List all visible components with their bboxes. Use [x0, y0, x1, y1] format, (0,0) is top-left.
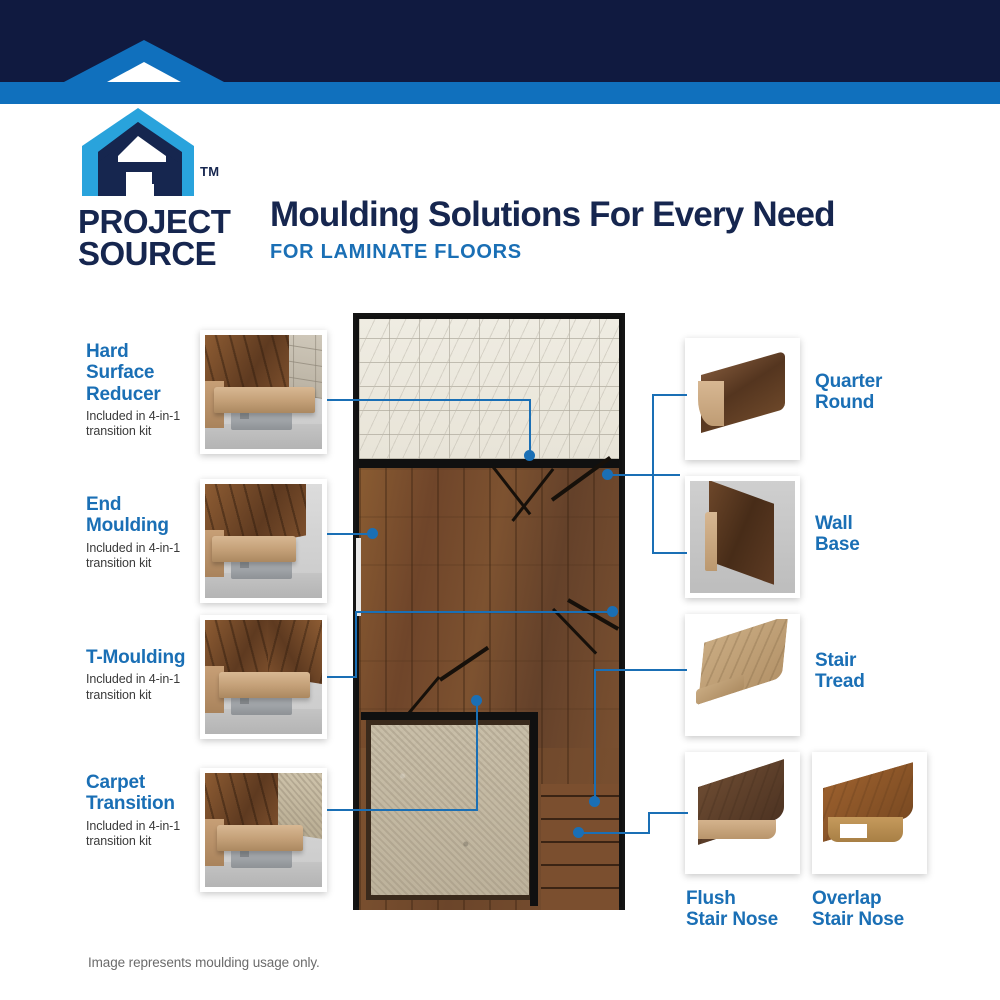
thumbnail-t-moulding[interactable] — [200, 615, 327, 739]
connector-dot-stair-nose — [573, 827, 584, 838]
label-line: Wall — [815, 513, 860, 534]
label-line: Moulding — [86, 515, 196, 536]
connector-dot-quarter-round-wall-base — [602, 469, 613, 480]
connector-stair-nose-v — [648, 812, 650, 834]
note-line: Included in 4-in-1 — [86, 672, 206, 687]
label-line: End — [86, 494, 196, 515]
carpet-transition-image — [205, 773, 322, 887]
label-line: Hard — [86, 341, 196, 362]
note-line: transition kit — [86, 834, 206, 849]
connector-carpet-transition-h1 — [327, 809, 478, 811]
footnote-text: Image represents moulding usage only. — [88, 955, 320, 970]
infographic-root: TM PROJECT SOURCE Moulding Solutions For… — [0, 0, 1000, 1000]
page-subtitle: FOR LAMINATE FLOORS — [270, 241, 970, 264]
connector-dot-stair-tread — [589, 796, 600, 807]
label-carpet-transition: Carpet Transition Included in 4-in-1 tra… — [86, 772, 206, 849]
label-line: Stair Nose — [686, 909, 778, 930]
note-line: transition kit — [86, 424, 196, 439]
brand-logo: TM PROJECT SOURCE — [78, 106, 226, 276]
connector-hard-surface-reducer-h — [327, 399, 531, 401]
connector-carpet-transition-v — [476, 700, 478, 810]
window-left-wall — [356, 538, 361, 616]
thumbnail-hard-surface-reducer[interactable] — [200, 330, 327, 454]
label-flush-stair-nose: Flush Stair Nose — [686, 888, 778, 931]
label-line: Carpet — [86, 772, 206, 793]
label-line: Quarter — [815, 371, 882, 392]
connector-t-moulding-h2 — [355, 611, 613, 613]
label-line: Base — [815, 534, 860, 555]
connector-stair-nose-h1 — [578, 832, 650, 834]
label-line: Overlap — [812, 888, 904, 909]
label-line: Tread — [815, 671, 865, 692]
brand-name: PROJECT SOURCE — [78, 206, 226, 271]
wall-carpet-right — [530, 712, 538, 906]
connector-hard-surface-reducer-v — [529, 399, 531, 455]
wall-divider-tile-wood — [359, 459, 619, 468]
connector-dot-hard-surface-reducer — [524, 450, 535, 461]
flush-stair-nose-image — [690, 757, 795, 869]
label-hard-surface-reducer: Hard Surface Reducer Included in 4-in-1 … — [86, 341, 196, 439]
label-line: Reducer — [86, 384, 196, 405]
connector-wall-base-h — [652, 552, 687, 554]
note-line: transition kit — [86, 556, 196, 571]
quarter-round-image — [690, 343, 795, 455]
label-line: Flush — [686, 888, 778, 909]
trademark-symbol: TM — [200, 164, 219, 179]
connector-end-moulding-h — [327, 533, 372, 535]
connector-dot-t-moulding — [607, 606, 618, 617]
connector-dot-carpet-transition — [471, 695, 482, 706]
page-header — [0, 0, 1000, 104]
note-line: Included in 4-in-1 — [86, 409, 196, 424]
note-carpet-transition: Included in 4-in-1 transition kit — [86, 819, 206, 850]
connector-qr-wb-bracket — [652, 394, 654, 554]
label-t-moulding: T-Moulding Included in 4-in-1 transition… — [86, 647, 206, 703]
label-line: Stair Nose — [812, 909, 904, 930]
thumbnail-overlap-stair-nose[interactable] — [812, 752, 927, 874]
room-tile-entry — [359, 319, 619, 459]
thumbnail-end-moulding[interactable] — [200, 479, 327, 603]
thumbnail-stair-tread[interactable] — [685, 614, 800, 736]
title-block: Moulding Solutions For Every Need FOR LA… — [270, 196, 970, 264]
header-blue-band — [0, 82, 1000, 104]
t-moulding-image — [205, 620, 322, 734]
connector-t-moulding-v — [355, 611, 357, 677]
end-moulding-image — [205, 484, 322, 598]
connector-stair-tread-v — [594, 669, 596, 801]
connector-qr-wb-stem — [607, 474, 680, 476]
note-hard-surface-reducer: Included in 4-in-1 transition kit — [86, 409, 196, 440]
label-stair-tread: Stair Tread — [815, 650, 865, 693]
connector-t-moulding-h1 — [327, 676, 357, 678]
house-p-logo-icon — [78, 106, 198, 198]
stair-tread-image — [690, 619, 795, 731]
label-line: Transition — [86, 793, 206, 814]
connector-quarter-round-h — [652, 394, 687, 396]
label-quarter-round: Quarter Round — [815, 371, 882, 414]
thumbnail-quarter-round[interactable] — [685, 338, 800, 460]
overlap-stair-nose-image — [817, 757, 922, 869]
label-end-moulding: End Moulding Included in 4-in-1 transiti… — [86, 494, 196, 571]
connector-stair-nose-h2 — [648, 812, 688, 814]
note-end-moulding: Included in 4-in-1 transition kit — [86, 541, 196, 572]
hard-surface-reducer-image — [205, 335, 322, 449]
brand-name-line1: PROJECT — [78, 206, 226, 238]
wall-carpet-top — [361, 712, 537, 720]
wall-base-image — [690, 481, 795, 593]
room-wood-stairs — [541, 784, 619, 910]
thumbnail-flush-stair-nose[interactable] — [685, 752, 800, 874]
connector-stair-tread-h — [594, 669, 687, 671]
label-line: Stair — [815, 650, 865, 671]
label-wall-base: Wall Base — [815, 513, 860, 556]
note-line: transition kit — [86, 688, 206, 703]
thumbnail-wall-base[interactable] — [685, 476, 800, 598]
brand-name-line2: SOURCE — [78, 238, 226, 270]
label-line: T-Moulding — [86, 647, 206, 668]
note-line: Included in 4-in-1 — [86, 819, 206, 834]
note-t-moulding: Included in 4-in-1 transition kit — [86, 672, 206, 703]
thumbnail-carpet-transition[interactable] — [200, 768, 327, 892]
note-line: Included in 4-in-1 — [86, 541, 196, 556]
page-title: Moulding Solutions For Every Need — [270, 196, 970, 234]
label-line: Surface — [86, 362, 196, 383]
label-line: Round — [815, 392, 882, 413]
connector-dot-end-moulding — [367, 528, 378, 539]
label-overlap-stair-nose: Overlap Stair Nose — [812, 888, 904, 931]
